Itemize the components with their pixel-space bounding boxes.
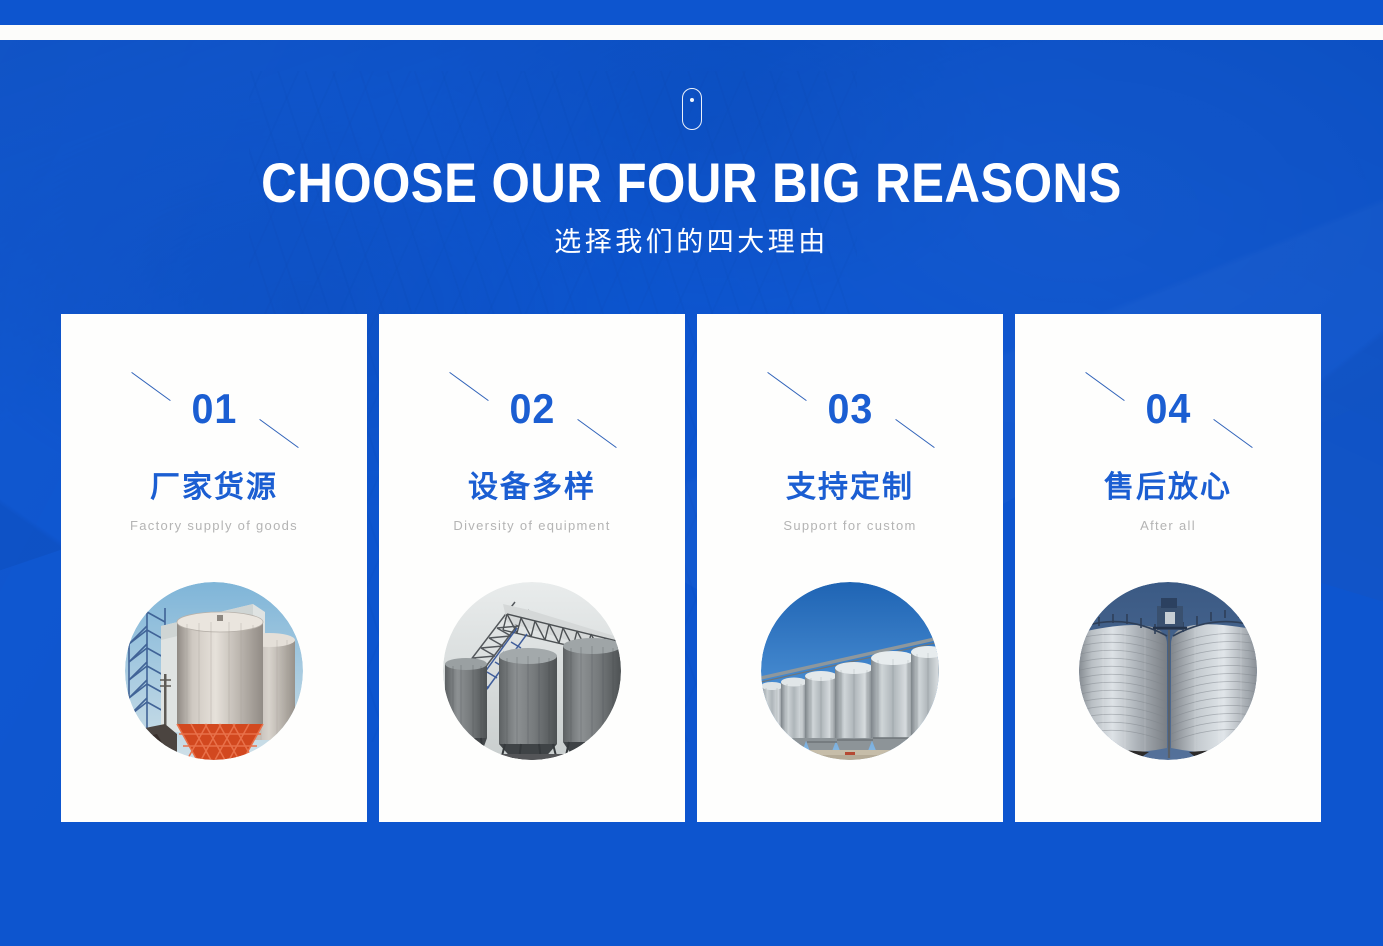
bottom-blue-area — [0, 822, 1383, 946]
heading-title-en: CHOOSE OUR FOUR BIG REASONS — [83, 152, 1300, 214]
card-title-en: Factory supply of goods — [109, 517, 319, 534]
diagonal-slash-icon — [449, 372, 488, 401]
card-photo-row-of-grey-steel-silos-with-conveyor-gantry — [443, 582, 621, 760]
reason-card[interactable]: 03 支持定制 Support for custom — [697, 314, 1003, 822]
card-number-block: 02 — [437, 372, 627, 446]
card-title-en: Support for custom — [745, 517, 955, 534]
diagonal-slash-icon — [767, 372, 806, 401]
card-title-cn: 设备多样 — [468, 470, 596, 506]
card-number: 04 — [1145, 388, 1191, 430]
card-title-cn: 厂家货源 — [150, 470, 278, 506]
card-photo-steel-grain-silo-with-orange-support-frame — [125, 582, 303, 760]
card-title-en: Diversity of equipment — [427, 517, 637, 534]
promo-page: CHOOSE OUR FOUR BIG REASONS 选择我们的四大理由 01… — [0, 0, 1383, 946]
diagonal-slash-icon — [1213, 419, 1252, 448]
diagonal-slash-icon — [895, 419, 934, 448]
diagonal-slash-icon — [259, 419, 298, 448]
card-title-en: After all — [1063, 517, 1273, 534]
card-number-block: 03 — [755, 372, 945, 446]
card-number: 03 — [827, 388, 873, 430]
reason-card[interactable]: 04 售后放心 After all — [1015, 314, 1321, 822]
mouse-scroll-dot — [690, 98, 694, 102]
heading-title-cn: 选择我们的四大理由 — [0, 226, 1383, 260]
card-title-cn: 支持定制 — [786, 470, 914, 506]
card-photo-two-large-corrugated-steel-silos-close-up — [1079, 582, 1257, 760]
card-number-block: 01 — [119, 372, 309, 446]
reason-card[interactable]: 02 设备多样 Diversity of equipment — [379, 314, 685, 822]
card-number: 02 — [509, 388, 555, 430]
mouse-scroll-icon[interactable] — [682, 88, 702, 130]
card-title-cn: 售后放心 — [1104, 470, 1232, 506]
top-white-divider — [0, 25, 1383, 40]
card-photo-galvanised-silo-battery-under-blue-sky — [761, 582, 939, 760]
reason-card-list: 01 厂家货源 Factory supply of goods — [61, 314, 1321, 822]
diagonal-slash-icon — [131, 372, 170, 401]
diagonal-slash-icon — [1085, 372, 1124, 401]
diagonal-slash-icon — [577, 419, 616, 448]
page-heading: CHOOSE OUR FOUR BIG REASONS 选择我们的四大理由 — [0, 152, 1383, 260]
card-number: 01 — [191, 388, 237, 430]
reason-card[interactable]: 01 厂家货源 Factory supply of goods — [61, 314, 367, 822]
card-number-block: 04 — [1073, 372, 1263, 446]
